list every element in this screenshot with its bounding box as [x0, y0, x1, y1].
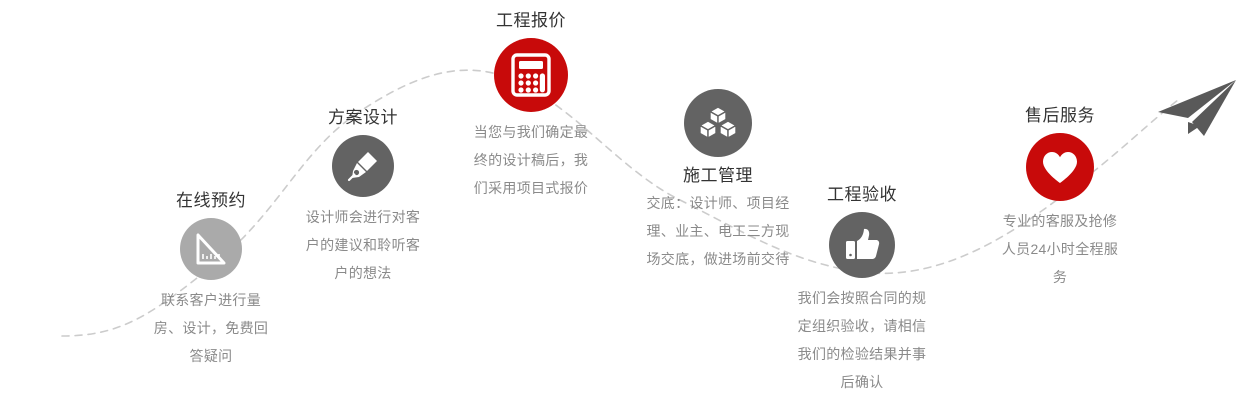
calculator-icon — [494, 38, 568, 112]
step-description: 联系客户进行量 房、设计，免费回 答疑问 — [106, 286, 316, 370]
desc-line: 户的想法 — [258, 259, 468, 287]
desc-line: 我们会按照合同的规 — [757, 284, 967, 312]
cubes-icon — [684, 89, 752, 157]
heart-icon — [1026, 133, 1094, 201]
step-title: 工程验收 — [757, 182, 967, 208]
desc-line: 终的设计稿后，我 — [426, 146, 636, 174]
desc-line: 户的建议和聆听客 — [258, 231, 468, 259]
desc-line: 我们的检验结果并事 — [757, 340, 967, 368]
step-title: 工程报价 — [426, 8, 636, 34]
step-description: 设计师会进行对客 户的建议和聆听客 户的想法 — [258, 203, 468, 287]
desc-line: 人员24小时全程服 — [955, 235, 1165, 263]
flow-step-6[interactable]: 售后服务 专业的客服及抢修 人员24小时全程服 务 — [955, 103, 1165, 291]
flow-diagram-canvas: 在线预约 联系客户进行量 房、设计，免费回 答疑问 方案设计 — [0, 0, 1245, 402]
desc-line: 们采用项目式报价 — [426, 174, 636, 202]
desc-line: 务 — [955, 263, 1165, 291]
ruler-triangle-icon — [180, 218, 242, 280]
desc-line: 定组织验收，请相信 — [757, 312, 967, 340]
step-description: 当您与我们确定最 终的设计稿后，我 们采用项目式报价 — [426, 118, 636, 202]
desc-line: 设计师会进行对客 — [258, 203, 468, 231]
step-description: 专业的客服及抢修 人员24小时全程服 务 — [955, 207, 1165, 291]
pen-nib-icon — [332, 135, 394, 197]
step-title: 售后服务 — [955, 103, 1165, 129]
desc-line: 专业的客服及抢修 — [955, 207, 1165, 235]
flow-step-5[interactable]: 工程验收 我们会按照合同的规 定组织验收，请相信 我们的检验结果并事 后确认 — [757, 182, 967, 396]
desc-line: 房、设计，免费回 — [106, 314, 316, 342]
step-description: 我们会按照合同的规 定组织验收，请相信 我们的检验结果并事 后确认 — [757, 284, 967, 396]
desc-line: 答疑问 — [106, 342, 316, 370]
desc-line: 当您与我们确定最 — [426, 118, 636, 146]
flow-step-3[interactable]: 工程报价 当您与我们确定最 终的设计稿后，我 们采用项目式报价 — [426, 8, 636, 202]
desc-line: 联系客户进行量 — [106, 286, 316, 314]
thumbs-up-icon — [829, 212, 895, 278]
desc-line: 后确认 — [757, 368, 967, 396]
